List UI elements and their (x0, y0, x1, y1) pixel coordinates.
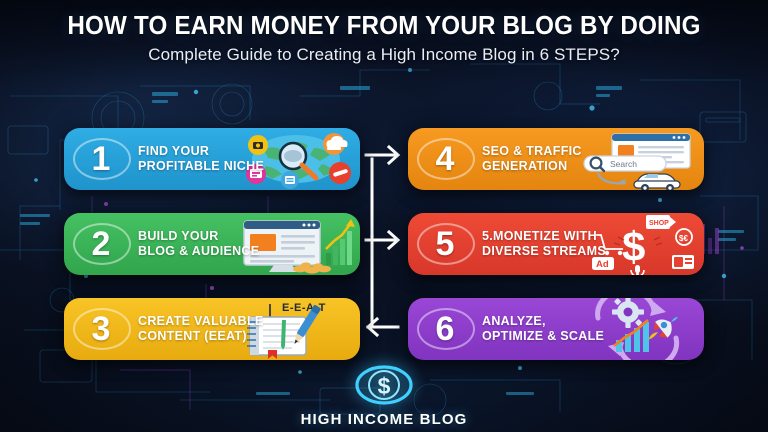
step-5-number-badge: 5 (408, 213, 482, 275)
dollar-symbol: $ (622, 223, 645, 270)
page-subtitle: Complete Guide to Creating a High Income… (0, 45, 768, 65)
brand-badge: $ HIGH INCOME BLOG (0, 364, 768, 428)
step-1-number-badge: 1 (64, 128, 138, 190)
step-3-number-badge: 3 (64, 298, 138, 360)
step-2-number: 2 (92, 227, 111, 261)
step-1-label: FIND YOUR PROFITABLE NICHE (138, 144, 264, 175)
step-card-6[interactable]: 6 ANALYZE, OPTIMIZE & SCALE (408, 298, 704, 360)
step-card-4[interactable]: 4 SEO & TRAFFIC GENERATION (408, 128, 704, 190)
step-3-label: CREATE VALUABLE CONTENT (EEAT) (138, 314, 264, 345)
step-6-number: 6 (436, 312, 455, 346)
browser-search-car-icon: Search (574, 128, 700, 190)
svg-text:SHOP: SHOP (649, 220, 669, 227)
step-card-2[interactable]: 2 BUILD YOUR BLOG & AUDIENCE (64, 213, 360, 275)
step-card-3[interactable]: 3 CREATE VALUABLE CONTENT (EEAT) E-E-A-T (64, 298, 360, 360)
header: HOW TO EARN MONEY FROM YOUR BLOG BY DOIN… (0, 10, 768, 65)
step-5-number: 5 (436, 227, 455, 261)
step-5-label: 5.MONETIZE WITH DIVERSE STREAMS (482, 229, 606, 260)
svg-text:$€: $€ (679, 234, 688, 243)
step-4-label: SEO & TRAFFIC GENERATION (482, 144, 582, 175)
step-1-number: 1 (92, 142, 111, 176)
page-title: HOW TO EARN MONEY FROM YOUR BLOG BY DOIN… (27, 10, 741, 41)
ad-badge-text: Ad (596, 259, 609, 270)
step-card-1[interactable]: 1 FIND YOUR PROFITABLE NICHE (64, 128, 360, 190)
step-6-number-badge: 6 (408, 298, 482, 360)
coin-dollar-symbol: $ (378, 373, 391, 399)
infographic-canvas: HOW TO EARN MONEY FROM YOUR BLOG BY DOIN… (0, 0, 768, 432)
step-2-number-badge: 2 (64, 213, 138, 275)
step-card-5[interactable]: 5 5.MONETIZE WITH DIVERSE STREAMS $ Ad (408, 213, 704, 275)
search-placeholder-text: Search (610, 159, 637, 169)
step-4-number: 4 (436, 142, 455, 176)
step-3-number: 3 (92, 312, 111, 346)
dollar-coin-icon: $ (352, 364, 416, 408)
step-4-number-badge: 4 (408, 128, 482, 190)
step-2-label: BUILD YOUR BLOG & AUDIENCE (138, 229, 259, 260)
brand-name: HIGH INCOME BLOG (0, 411, 768, 428)
step-6-label: ANALYZE, OPTIMIZE & SCALE (482, 314, 604, 345)
